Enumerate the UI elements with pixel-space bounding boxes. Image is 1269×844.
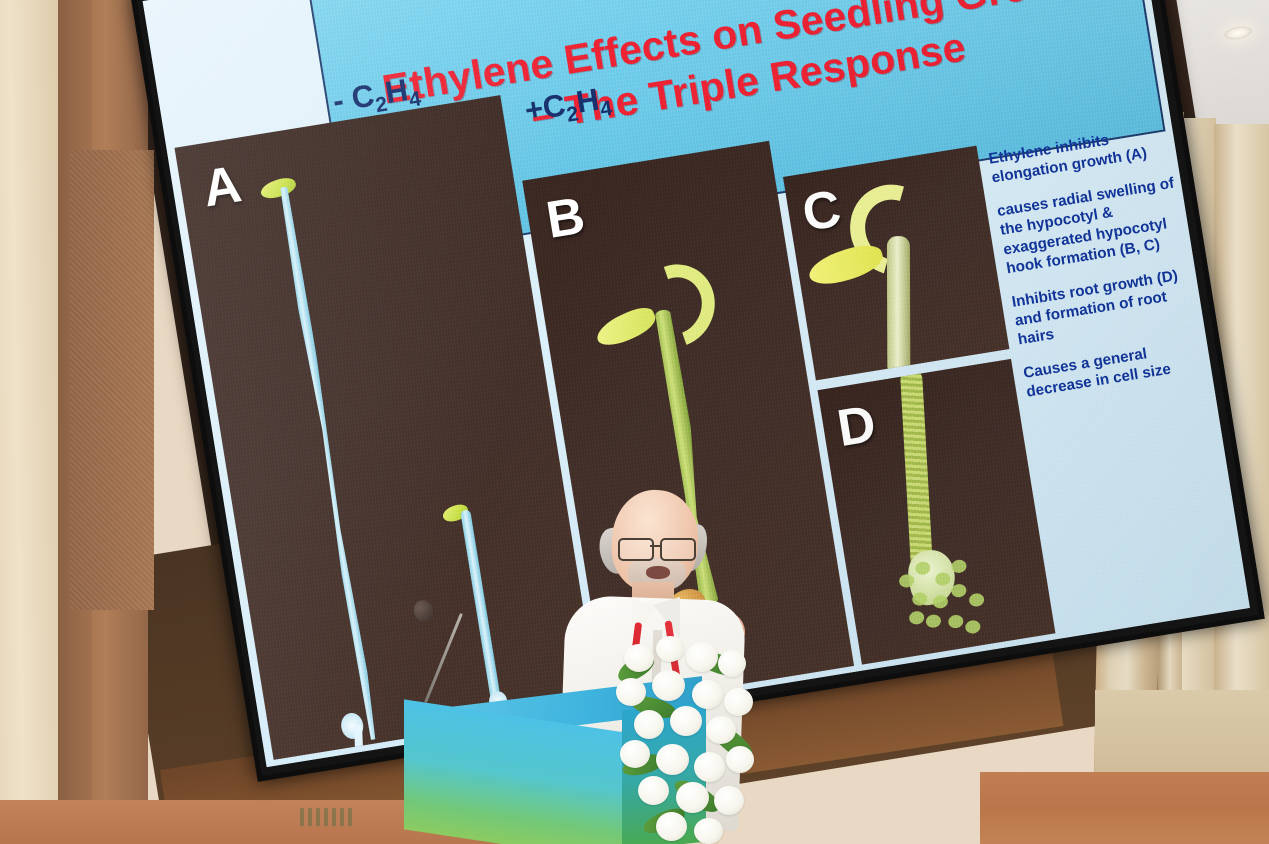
slide-bullet: Inhibits root growth (D) and formation o…	[1010, 263, 1207, 350]
minus-label-h: H	[383, 72, 411, 110]
acoustic-panel	[70, 150, 154, 610]
panel-letter-c: C	[798, 179, 845, 244]
rose-bloom	[616, 678, 646, 706]
rose-bloom	[638, 776, 669, 805]
conference-photo-scene: Ethylene Effects on Seedling Growth – Th…	[0, 0, 1269, 844]
panel-letter-d: D	[833, 394, 880, 459]
rose-bloom	[634, 710, 664, 739]
rose-bloom	[726, 746, 754, 773]
root-axis	[900, 369, 933, 570]
rose-bloom	[670, 706, 702, 736]
rose-bloom	[686, 642, 718, 672]
flower-arrangement	[612, 636, 762, 844]
rose-bloom	[652, 670, 685, 701]
plus-label-h: H	[574, 82, 602, 120]
glasses-lens-right	[660, 538, 696, 561]
podium-logo	[300, 808, 354, 826]
glasses-icon	[616, 538, 698, 558]
rose-bloom	[718, 650, 746, 677]
stage-floor-right	[980, 772, 1269, 844]
rose-bloom	[676, 782, 709, 813]
slide-photo-panel-d: D	[818, 359, 1056, 665]
hypocotyl-untreated	[278, 186, 378, 741]
glasses-bridge	[650, 545, 662, 547]
rose-bloom	[656, 812, 687, 841]
rose-bloom	[706, 716, 736, 744]
root-hairs	[893, 551, 999, 649]
rose-bloom	[656, 744, 689, 775]
rose-bloom	[620, 740, 650, 768]
plus-label-text: +C	[522, 87, 568, 128]
minus-label-text: - C	[330, 78, 376, 119]
panel-letter-b: B	[542, 186, 589, 251]
rose-bloom	[624, 644, 654, 672]
cotyledon-icon	[592, 303, 659, 351]
glasses-lens-left	[618, 538, 654, 561]
slide-bullet: causes radial swelling of the hypocotyl …	[996, 172, 1196, 278]
mouth	[646, 566, 670, 579]
rose-bloom	[714, 786, 744, 815]
rose-bloom	[692, 680, 723, 709]
root-untreated	[354, 724, 369, 759]
panel-letter-a: A	[199, 154, 246, 219]
cotyledon-icon	[259, 174, 299, 202]
rose-bloom	[656, 636, 684, 662]
hypocotyl-closeup	[887, 236, 910, 376]
rose-bloom	[694, 752, 725, 782]
hypocotyl-treated	[460, 509, 502, 708]
cotyledon-icon	[805, 239, 886, 290]
slide-photo-panel-c: C	[783, 146, 1009, 381]
slide-bullet-list: Ethylene inhibits elongation growth (A) …	[987, 120, 1218, 417]
rose-bloom	[724, 688, 753, 716]
rose-bloom	[694, 818, 723, 844]
